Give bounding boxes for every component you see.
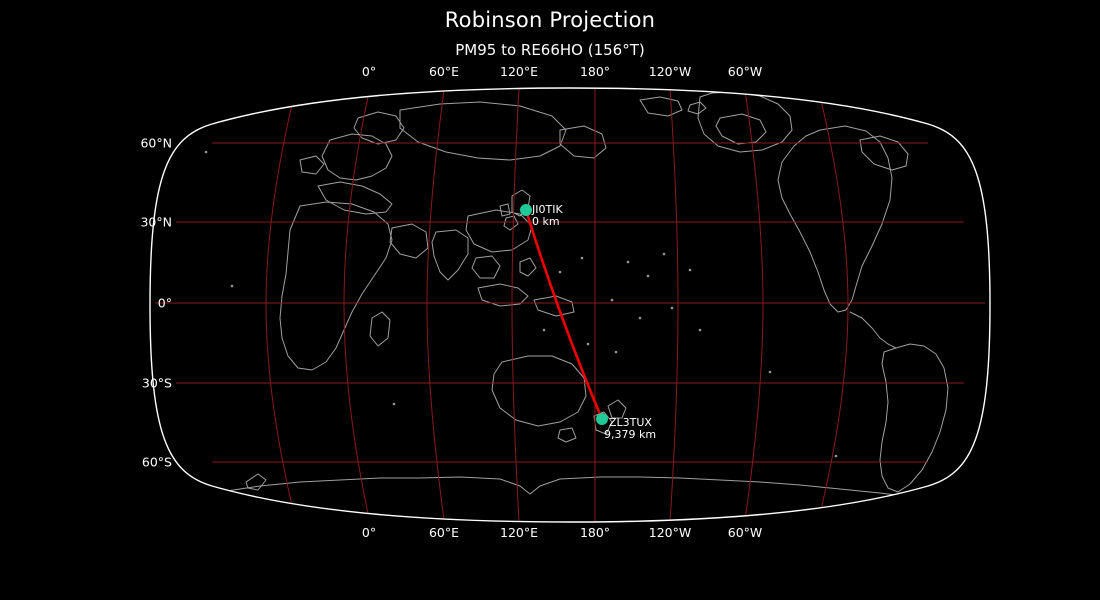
lon-tick-top-0: 0° [362, 64, 376, 79]
lon-tick-bottom-120e: 120°E [500, 525, 538, 540]
lon-tick-top-120e: 120°E [500, 64, 538, 79]
lon-tick-bottom-60w: 60°W [728, 525, 763, 540]
lat-tick-0: 0° [108, 296, 172, 311]
map-figure: Robinson Projection PM95 to RE66HO (156°… [0, 0, 1100, 600]
lat-tick-30n: 30°N [108, 215, 172, 230]
lon-tick-bottom-180: 180° [580, 525, 610, 540]
lon-tick-bottom-0: 0° [362, 525, 376, 540]
lon-tick-top-120w: 120°W [649, 64, 691, 79]
lon-tick-top-60w: 60°W [728, 64, 763, 79]
marker-destination[interactable] [596, 413, 608, 425]
lat-tick-60s: 60°S [108, 455, 172, 470]
marker-origin[interactable] [520, 204, 532, 216]
origin-distance-label: 0 km [532, 216, 560, 229]
lon-tick-top-180: 180° [580, 64, 610, 79]
map-globe-body [140, 80, 1000, 530]
lon-tick-bottom-120w: 120°W [649, 525, 691, 540]
destination-distance-label: 9,379 km [604, 429, 656, 442]
lat-tick-30s: 30°S [108, 376, 172, 391]
lat-tick-60n: 60°N [108, 136, 172, 151]
lon-tick-bottom-60e: 60°E [429, 525, 459, 540]
lon-tick-top-60e: 60°E [429, 64, 459, 79]
